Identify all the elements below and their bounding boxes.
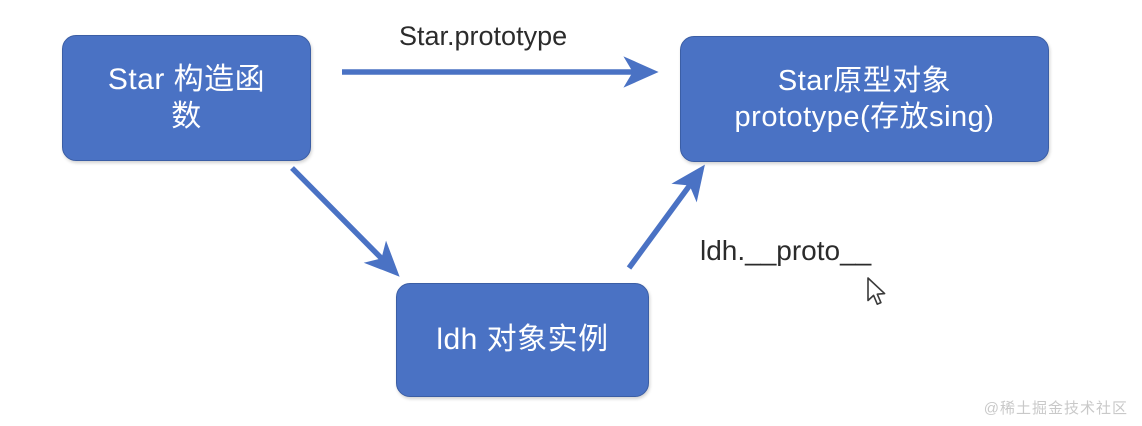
edge-label-ldh-proto: ldh.__proto__ [700, 235, 871, 267]
node-star-constructor[interactable]: Star 构造函 数 [62, 35, 311, 161]
watermark: @稀土掘金技术社区 [984, 397, 1128, 418]
node-star-prototype-object-line1: Star原型对象 [778, 65, 951, 97]
node-star-constructor-line2: 数 [171, 100, 202, 133]
mouse-pointer-icon [866, 277, 888, 309]
node-ldh-instance[interactable]: ldh 对象实例 [396, 283, 649, 397]
node-star-prototype-object-label: Star原型对象 prototype(存放sing) [681, 63, 1048, 136]
node-star-constructor-label: Star 构造函 数 [63, 61, 310, 136]
arrow-instance-to-prototype [629, 170, 701, 268]
arrow-ctor-to-instance [292, 168, 395, 272]
node-star-constructor-line1: Star 构造函 [108, 63, 265, 96]
node-star-prototype-object-line2: prototype(存放sing) [735, 101, 995, 133]
node-ldh-instance-label: ldh 对象实例 [397, 321, 648, 359]
node-star-prototype-object[interactable]: Star原型对象 prototype(存放sing) [680, 36, 1049, 162]
diagram-canvas: Star 构造函 数 Star原型对象 prototype(存放sing) ld… [0, 0, 1142, 426]
edge-label-star-prototype: Star.prototype [399, 21, 567, 52]
